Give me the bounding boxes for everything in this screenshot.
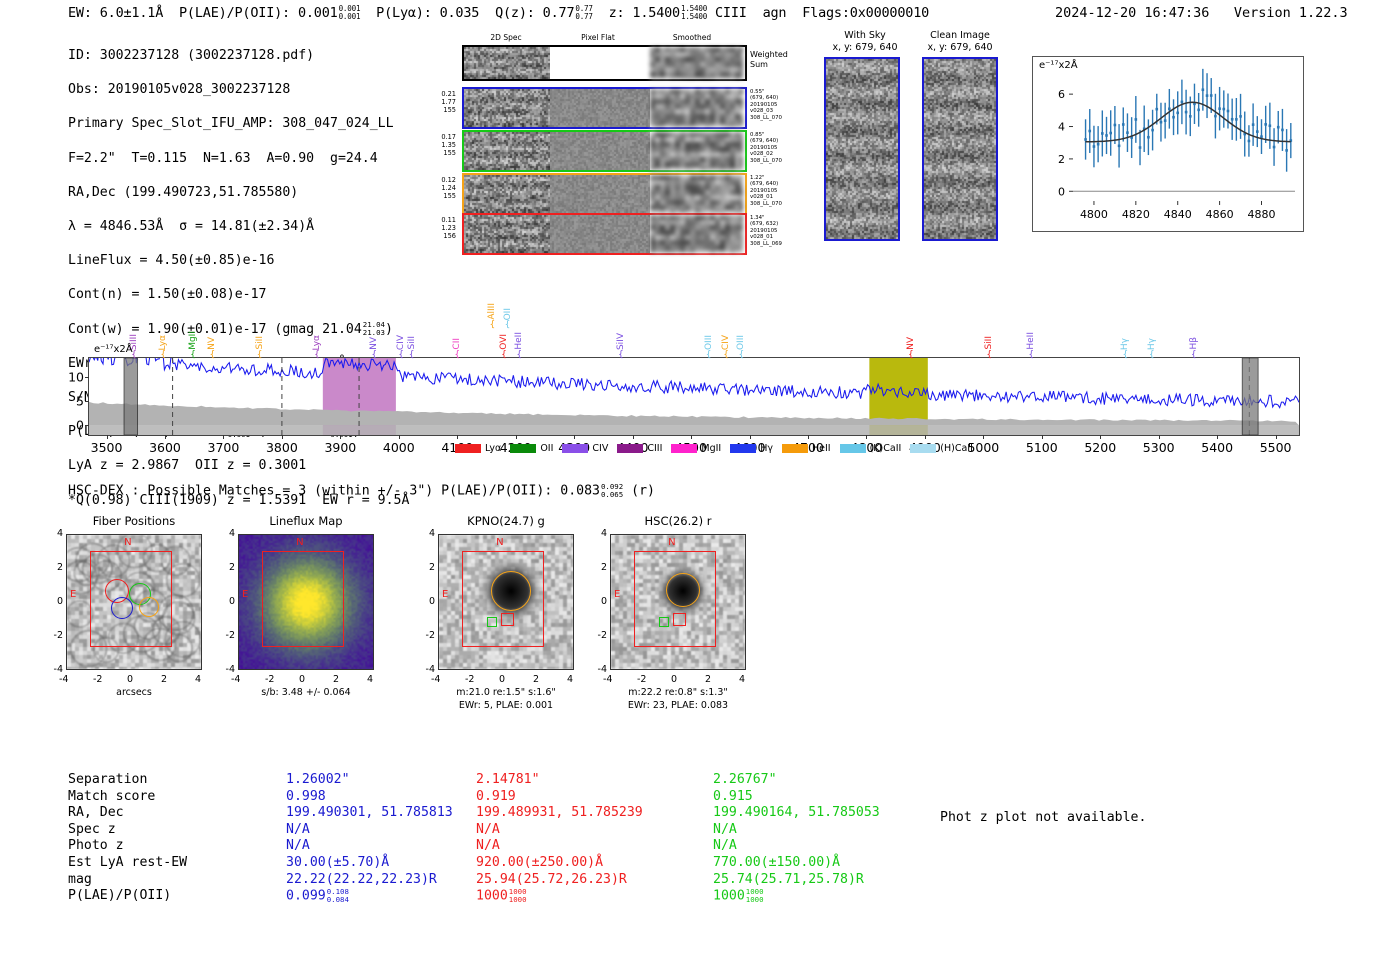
cutout-xtick: 0 <box>499 674 505 685</box>
spec2d-row-0-meta: 0.55" (679, 640) 20190105 v028_03 308_LL… <box>750 89 782 121</box>
cutout-ytick: 0 <box>48 596 63 607</box>
cutout-ytick: 0 <box>420 596 435 607</box>
spectrum-xtick: 3800 <box>266 440 298 455</box>
svg-text:4880: 4880 <box>1247 208 1275 221</box>
info-id: ID: 3002237128 (3002237128.pdf) <box>68 47 409 64</box>
cutout-subtitle-2-3: EWr: 23, PLAE: 0.083 <box>593 700 763 712</box>
match-table-cell: 770.00(±150.00)Å <box>713 855 880 872</box>
match-table-row-label: Match score <box>68 789 187 806</box>
spectrum-xtick-mark <box>1217 435 1218 439</box>
spec2d-weighted-sum-label: Weighted Sum <box>750 50 788 69</box>
spectrum-xtick-mark <box>983 435 984 439</box>
info-seeing: F=2.2" T=0.115 N=1.63 A=0.90 g=24.4 <box>68 150 409 167</box>
cutout-title-2: KPNO(24.7) g <box>426 514 586 528</box>
header-summary-line: EW: 6.0±1.1Å P(LAE)/P(OII): 0.0010.0010.… <box>68 5 929 21</box>
cutout-subtitle-2-2: EWr: 5, PLAE: 0.001 <box>421 700 591 712</box>
spectrum-xtick-mark <box>808 435 809 439</box>
spectrum-line-brace: { <box>257 350 263 360</box>
spectrum-xtick-mark <box>1100 435 1101 439</box>
legend-label: (K)CaII <box>870 443 902 454</box>
legend-swatch <box>730 444 756 453</box>
full-spectrum-plot[interactable]: e⁻¹⁷x2Å 35003600370038003900400041004200… <box>88 357 1300 436</box>
spectrum-svg <box>89 358 1299 435</box>
cutout-xtick: 4 <box>195 674 201 685</box>
legend-swatch <box>562 444 588 453</box>
source-ellipse <box>666 573 700 607</box>
cutout-ytick: -2 <box>420 630 435 641</box>
spectrum-xtick-mark <box>574 435 575 439</box>
spectrum-line-brace: { <box>723 350 729 360</box>
spectrum-ytick-mark <box>85 425 89 426</box>
spectrum-line-label-OVI: OVI <box>499 334 509 350</box>
spec2d-row-3-stats: 0.11 1.23 156 <box>424 216 456 240</box>
spectrum-xtick-mark <box>750 435 751 439</box>
spec2d-weighted-sum-row[interactable] <box>462 45 747 81</box>
spectrum-xtick-mark <box>399 435 400 439</box>
cutout-title-0: Fiber Positions <box>54 514 214 528</box>
match-marker <box>501 613 514 626</box>
spectrum-xtick: 5100 <box>1026 440 1058 455</box>
svg-text:4: 4 <box>1058 121 1065 134</box>
match-table-row-label: mag <box>68 872 187 889</box>
cutout-xtick: -4 <box>603 674 612 685</box>
legend-label: CIV <box>592 443 608 454</box>
match-marker <box>659 617 669 627</box>
cutout-ytick: 4 <box>420 528 435 539</box>
spectrum-xtick-mark <box>691 435 692 439</box>
spectrum-line-label-SiII: SiII <box>984 336 994 350</box>
cutout-ytick: -4 <box>592 664 607 675</box>
match-table-cell: 199.489931, 51.785239 <box>476 805 643 822</box>
cutout-aperture-box <box>262 551 344 646</box>
match-table-cell: 920.00(±250.00)Å <box>476 855 643 872</box>
spectrum-units-label: e⁻¹⁷x2Å <box>94 344 133 355</box>
svg-text:6: 6 <box>1058 88 1065 101</box>
with-sky-cutout[interactable] <box>824 57 900 241</box>
clean-image-title: Clean Image x, y: 679, 640 <box>905 30 1015 53</box>
match-table-cell: N/A <box>476 838 643 855</box>
legend-item-HCaII: (H)CaII <box>910 443 973 454</box>
spec2d-col-header-1: Pixel Flat <box>548 33 648 42</box>
match-marker <box>673 613 686 626</box>
match-table-cell: 25.74(25.71,25.78)R <box>713 872 880 889</box>
spectrum-line-label-SiIV: SiIV <box>616 333 626 350</box>
spectrum-xtick-mark <box>107 435 108 439</box>
spectrum-line-brace: { <box>986 350 992 360</box>
spectrum-line-brace: { <box>398 350 404 360</box>
match-marker <box>487 617 497 627</box>
spec2d-row-0[interactable] <box>462 87 747 129</box>
spectrum-xtick: 3500 <box>91 440 123 455</box>
legend-swatch <box>671 444 697 453</box>
svg-text:4820: 4820 <box>1122 208 1150 221</box>
spectrum-line-brace: { <box>1149 350 1155 360</box>
match-table-cell: 1.26002" <box>286 772 453 789</box>
match-table-row-label: Est LyA rest-EW <box>68 855 187 872</box>
cutout-east-label: E <box>70 589 76 600</box>
legend-label: (H)CaII <box>940 443 973 454</box>
cutout-subtitle-1-3: m:22.2 re:0.8" s:1.3" <box>593 687 763 699</box>
spec2d-row-3[interactable] <box>462 213 747 255</box>
header-qz-value: 0.77 <box>543 5 575 21</box>
spectrum-xtick-mark <box>457 435 458 439</box>
cutout-xtick: -4 <box>59 674 68 685</box>
spectrum-line-label-OII: OII <box>503 308 513 320</box>
spectrum-line-label-NV: NV <box>369 337 379 350</box>
match-table-row-label: Separation <box>68 772 187 789</box>
legend-swatch <box>782 444 808 453</box>
cutout-panel-3[interactable]: NE <box>610 534 746 670</box>
info-primary-spec: Primary Spec_Slot_IFU_AMP: 308_047_024_L… <box>68 115 409 132</box>
legend-swatch <box>910 444 936 453</box>
legend-item-Ly: Lyα <box>455 443 501 454</box>
spectrum-xtick-mark <box>223 435 224 439</box>
info-radec: RA,Dec (199.490723,51.785580) <box>68 184 409 201</box>
info-wavelength: λ = 4846.53Å σ = 14.81(±2.34)Å <box>68 218 409 235</box>
header-qz-label: Q(z): <box>495 5 535 21</box>
cutout-xtick: 0 <box>127 674 133 685</box>
cutout-xtick: -4 <box>231 674 240 685</box>
spectrum-xtick-mark <box>633 435 634 439</box>
cutout-panel-0[interactable]: NE <box>66 534 202 670</box>
match-table-column-0: 1.26002"0.998199.490301, 51.785813N/AN/A… <box>286 772 453 905</box>
cutout-north-label: N <box>496 537 503 548</box>
match-table-cell: 0.915 <box>713 789 880 806</box>
legend-label: Hγ <box>760 443 773 454</box>
spectrum-ytick-mark <box>85 401 89 402</box>
match-table-cell: 0.919 <box>476 789 643 806</box>
cutout-xtick: 2 <box>705 674 711 685</box>
header-plae-value: 0.001 <box>298 5 338 21</box>
hscdex-range: 0.0920.065 <box>601 483 623 498</box>
cutout-ytick: 2 <box>220 562 235 573</box>
cutout-xtick: -2 <box>465 674 474 685</box>
match-table-cell: 30.00(±5.70)Å <box>286 855 453 872</box>
cutout-ytick: 2 <box>420 562 435 573</box>
header-z-label: z: <box>609 5 625 21</box>
spec2d-row-2[interactable] <box>462 173 747 215</box>
spectrum-xtick: 3900 <box>324 440 356 455</box>
match-table-row-label: RA, Dec <box>68 805 187 822</box>
match-table-cell: 199.490164, 51.785053 <box>713 805 880 822</box>
spectrum-ytick: 0 <box>76 418 84 433</box>
match-table-cell: N/A <box>286 822 453 839</box>
spectrum-xtick-mark <box>1159 435 1160 439</box>
fiber-circle <box>139 597 159 617</box>
spectrum-line-brace: { <box>409 350 415 360</box>
spectrum-line-brace: { <box>1028 350 1034 360</box>
with-sky-label: With Sky <box>815 30 915 42</box>
spectrum-xtick: 5200 <box>1084 440 1116 455</box>
spectrum-xtick-mark <box>1042 435 1043 439</box>
spectrum-line-label-SiII: SiII <box>255 336 265 350</box>
spectrum-xtick-mark <box>165 435 166 439</box>
spectrum-line-brace: { <box>501 350 507 360</box>
legend-swatch <box>617 444 643 453</box>
clean-image-coords: x, y: 679, 640 <box>905 42 1015 54</box>
emission-line-fit-plot[interactable]: e⁻¹⁷x2Å 480048204840486048800246 <box>1032 56 1304 232</box>
spectrum-xtick: 4000 <box>383 440 415 455</box>
cutout-xtick: 4 <box>739 674 745 685</box>
cutout-ytick: 0 <box>592 596 607 607</box>
cutout-ytick: 2 <box>48 562 63 573</box>
cutout-xtick: 4 <box>567 674 573 685</box>
legend-label: CIII <box>647 443 662 454</box>
match-table-cell: N/A <box>476 822 643 839</box>
legend-item-KCaII: (K)CaII <box>840 443 902 454</box>
spectrum-line-label-MgII: MgII <box>188 331 198 350</box>
match-table-cell: 25.94(25.72,26.23)R <box>476 872 643 889</box>
header-z-range: 1.54001.5400 <box>681 5 707 20</box>
spectrum-line-brace: { <box>371 350 377 360</box>
svg-text:2: 2 <box>1058 153 1065 166</box>
cutout-xtick: 2 <box>161 674 167 685</box>
spectrum-xtick: 5500 <box>1260 440 1292 455</box>
spectrum-xtick: 3700 <box>208 440 240 455</box>
spectrum-line-brace: { <box>190 350 196 360</box>
match-table-cell: N/A <box>286 838 453 855</box>
spec2d-row-3-meta: 1.34" (679, 632) 20190105 v028_01 308_LL… <box>750 215 782 247</box>
header-plya: P(Lyα): 0.035 <box>376 5 479 21</box>
match-table-plae: 0.0990.1080.084 <box>286 888 453 905</box>
match-table-cell: 199.490301, 51.785813 <box>286 805 453 822</box>
info-gmag-range: 21.0421.03 <box>363 321 385 336</box>
header-plae-range: 0.0010.001 <box>339 5 361 20</box>
header-classification: agn <box>763 5 787 21</box>
header-version: Version 1.22.3 <box>1234 5 1348 21</box>
header-flags: Flags:0x00000010 <box>802 5 929 21</box>
match-table-column-1: 2.14781"0.919199.489931, 51.785239N/AN/A… <box>476 772 643 905</box>
match-table-plae: 100010001000 <box>713 888 880 905</box>
spec2d-col-header-0: 2D Spec <box>456 33 556 42</box>
spectrum-line-brace: { <box>209 350 215 360</box>
spectrum-line-label-CIV: CIV <box>721 335 731 350</box>
clean-image-label: Clean Image <box>905 30 1015 42</box>
match-table-cell: 0.998 <box>286 789 453 806</box>
legend-item-OII: OII <box>510 443 553 454</box>
cutout-ytick: 2 <box>592 562 607 573</box>
cutout-subtitle-1-0: arcsecs <box>49 687 219 699</box>
spectrum-xtick: 5400 <box>1201 440 1233 455</box>
spectrum-line-brace: { <box>516 350 522 360</box>
spectrum-line-brace: { <box>618 350 624 360</box>
cutout-xtick: -2 <box>265 674 274 685</box>
spectrum-line-label-NV: NV <box>207 337 217 350</box>
legend-swatch <box>510 444 536 453</box>
spectrum-line-label-H: Hβ <box>1189 337 1199 350</box>
spectrum-line-brace: { <box>160 350 166 360</box>
cutout-title-1: Lineflux Map <box>226 514 386 528</box>
legend-item-CIII: CIII <box>617 443 662 454</box>
spec2d-col-header-2: Smoothed <box>642 33 742 42</box>
info-cont-w: Cont(w) = 1.90(±0.01)e-17 (gmag 21.0421.… <box>68 321 409 338</box>
match-table-cell: 2.26767" <box>713 772 880 789</box>
spectrum-line-brace: { <box>454 350 460 360</box>
match-table-row-label: Spec z <box>68 822 187 839</box>
spectrum-xtick-mark <box>282 435 283 439</box>
spectrum-xtick: 3600 <box>149 440 181 455</box>
legend-label: Lyα <box>485 443 501 454</box>
spectrum-line-label-Ly: Lyα <box>158 335 168 350</box>
spec2d-row-2-stats: 0.12 1.24 155 <box>424 176 456 200</box>
cutout-panel-1[interactable]: NE <box>238 534 374 670</box>
match-table-cell: N/A <box>713 822 880 839</box>
header-z-line: CIII <box>715 5 747 21</box>
svg-text:4840: 4840 <box>1164 208 1192 221</box>
spectrum-line-brace: { <box>505 320 511 330</box>
header-ew: EW: 6.0±1.1Å <box>68 5 163 21</box>
hsc-dex-matches-line: HSC-DEX : Possible Matches = 3 (within +… <box>68 483 655 499</box>
spectrum-line-label-Ly: Lyα <box>312 335 322 350</box>
legend-item-MgII: MgII <box>671 443 721 454</box>
cutout-xtick: -2 <box>93 674 102 685</box>
cutout-panel-2[interactable]: NE <box>438 534 574 670</box>
spectrum-line-label-CII: CII <box>452 338 462 350</box>
match-table-column-2: 2.26767"0.915199.490164, 51.785053N/AN/A… <box>713 772 880 905</box>
cutout-ytick: -4 <box>220 664 235 675</box>
header-timestamp-block: 2024-12-20 16:47:36 Version 1.22.3 <box>1055 5 1348 21</box>
photz-unavailable-note: Phot z plot not available. <box>940 810 1146 825</box>
spec2d-row-1-stats: 0.17 1.35 155 <box>424 133 456 157</box>
legend-item-HeII: HeII <box>782 443 831 454</box>
spec2d-row-0-stats: 0.21 1.77 155 <box>424 90 456 114</box>
cutout-ytick: 4 <box>220 528 235 539</box>
spectrum-line-label-HeII: HeII <box>514 332 524 350</box>
spectrum-line-brace: { <box>1191 350 1197 360</box>
cutout-ytick: 4 <box>592 528 607 539</box>
cutout-east-label: E <box>442 589 448 600</box>
match-table-cell: N/A <box>713 838 880 855</box>
hscdex-prefix: HSC-DEX : Possible Matches = 3 (within +… <box>68 484 552 499</box>
legend-label: MgII <box>701 443 721 454</box>
spectrum-line-label-NV: NV <box>906 337 916 350</box>
spectrum-line-label-H: Hγ <box>1147 338 1157 350</box>
cutout-xtick: -2 <box>637 674 646 685</box>
spectrum-line-brace: { <box>314 350 320 360</box>
cutout-ytick: 0 <box>220 596 235 607</box>
spectrum-line-brace: { <box>908 350 914 360</box>
legend-swatch <box>840 444 866 453</box>
cutout-xtick: 0 <box>299 674 305 685</box>
spectrum-line-label-OIII: OIII <box>736 335 746 350</box>
header-datetime: 2024-12-20 16:47:36 <box>1055 5 1209 21</box>
cutout-xtick: 4 <box>367 674 373 685</box>
info-redshifts: LyA z = 2.9867 OII z = 0.3001 <box>68 457 409 474</box>
spectrum-ytick: 10 <box>68 370 84 385</box>
spectrum-line-label-AlIII: AlIII <box>487 303 497 320</box>
match-table-cell: 2.14781" <box>476 772 643 789</box>
match-table-row-label: P(LAE)/P(OII) <box>68 888 187 905</box>
gauss-fit-svg: 480048204840486048800246 <box>1033 57 1303 231</box>
cutout-ytick: -2 <box>220 630 235 641</box>
spectrum-line-brace: { <box>738 350 744 360</box>
match-table-row-label: Photo z <box>68 838 187 855</box>
spectrum-line-label-HeII: HeII <box>1026 332 1036 350</box>
spectrum-line-label-OIII: OIII <box>704 335 714 350</box>
spec2d-row-1[interactable] <box>462 130 747 172</box>
svg-text:4800: 4800 <box>1080 208 1108 221</box>
spectrum-xtick-mark <box>340 435 341 439</box>
source-ellipse <box>491 571 531 611</box>
cutout-east-label: E <box>614 589 620 600</box>
cutout-ytick: 4 <box>48 528 63 539</box>
spectrum-line-brace: { <box>1123 350 1129 360</box>
fiber-circle <box>111 597 133 619</box>
header-z-value: 1.5400 <box>632 5 680 21</box>
legend-item-CIV: CIV <box>562 443 608 454</box>
cutout-xtick: 0 <box>671 674 677 685</box>
spec2d-row-1-meta: 0.85" (679, 640) 20190105 v028_02 308_LL… <box>750 132 782 164</box>
spectrum-xtick-mark <box>925 435 926 439</box>
cutout-xtick: 2 <box>333 674 339 685</box>
clean-image-cutout[interactable] <box>922 57 998 241</box>
spectrum-line-brace: { <box>489 320 495 330</box>
legend-label: OII <box>540 443 553 454</box>
cutout-ytick: -4 <box>420 664 435 675</box>
hscdex-suffix: (r) <box>631 484 655 499</box>
spectrum-line-label-H: Hγ <box>1120 338 1130 350</box>
spectrum-xtick-mark <box>1276 435 1277 439</box>
spec2d-row-2-meta: 1.22" (679, 640) 20190105 v028_01 308_LL… <box>750 175 782 207</box>
cutout-ytick: -4 <box>48 664 63 675</box>
spectrum-legend: LyαOIICIVCIIIMgIIHγHeII(K)CaII(H)CaII <box>455 443 973 454</box>
spectrum-line-label-CIV: CIV <box>396 335 406 350</box>
legend-swatch <box>455 444 481 453</box>
spectrum-line-label-SiII: SiII <box>407 336 417 350</box>
spectrum-xtick-mark <box>866 435 867 439</box>
cutout-north-label: N <box>668 537 675 548</box>
spectrum-line-brace: { <box>706 350 712 360</box>
with-sky-title: With Sky x, y: 679, 640 <box>815 30 915 53</box>
match-table-plae: 100010001000 <box>476 888 643 905</box>
spectrum-ytick-mark <box>85 377 89 378</box>
cutout-north-label: N <box>124 537 131 548</box>
cutout-ytick: -2 <box>48 630 63 641</box>
cutout-north-label: N <box>296 537 303 548</box>
header-plae-label: P(LAE)/P(OII): <box>179 5 290 21</box>
match-table-cell: 22.22(22.22,22.23)R <box>286 872 453 889</box>
header-qz-range: 0.770.77 <box>575 5 592 20</box>
svg-text:4860: 4860 <box>1206 208 1234 221</box>
info-lineflux: LineFlux = 4.50(±0.85)e-16 <box>68 252 409 269</box>
svg-text:0: 0 <box>1058 185 1065 198</box>
cutout-title-3: HSC(26.2) r <box>598 514 758 528</box>
spectrum-xtick: 5300 <box>1143 440 1175 455</box>
legend-label: HeII <box>812 443 831 454</box>
spectrum-ytick: 5 <box>76 394 84 409</box>
cutout-subtitle-1-1: s/b: 3.48 +/- 0.064 <box>221 687 391 699</box>
info-cont-n: Cont(n) = 1.50(±0.08)e-17 <box>68 286 409 303</box>
cutout-ytick: -2 <box>592 630 607 641</box>
info-obs: Obs: 20190105v028_3002237128 <box>68 81 409 98</box>
legend-item-H: Hγ <box>730 443 773 454</box>
match-table-row-labels: SeparationMatch scoreRA, DecSpec zPhoto … <box>68 772 187 905</box>
spectrum-xtick-mark <box>516 435 517 439</box>
hscdex-value: 0.083 <box>560 484 600 499</box>
cutout-xtick: 2 <box>533 674 539 685</box>
with-sky-coords: x, y: 679, 640 <box>815 42 915 54</box>
cutout-xtick: -4 <box>431 674 440 685</box>
cutout-subtitle-1-2: m:21.0 re:1.5" s:1.6" <box>421 687 591 699</box>
cutout-east-label: E <box>242 589 248 600</box>
